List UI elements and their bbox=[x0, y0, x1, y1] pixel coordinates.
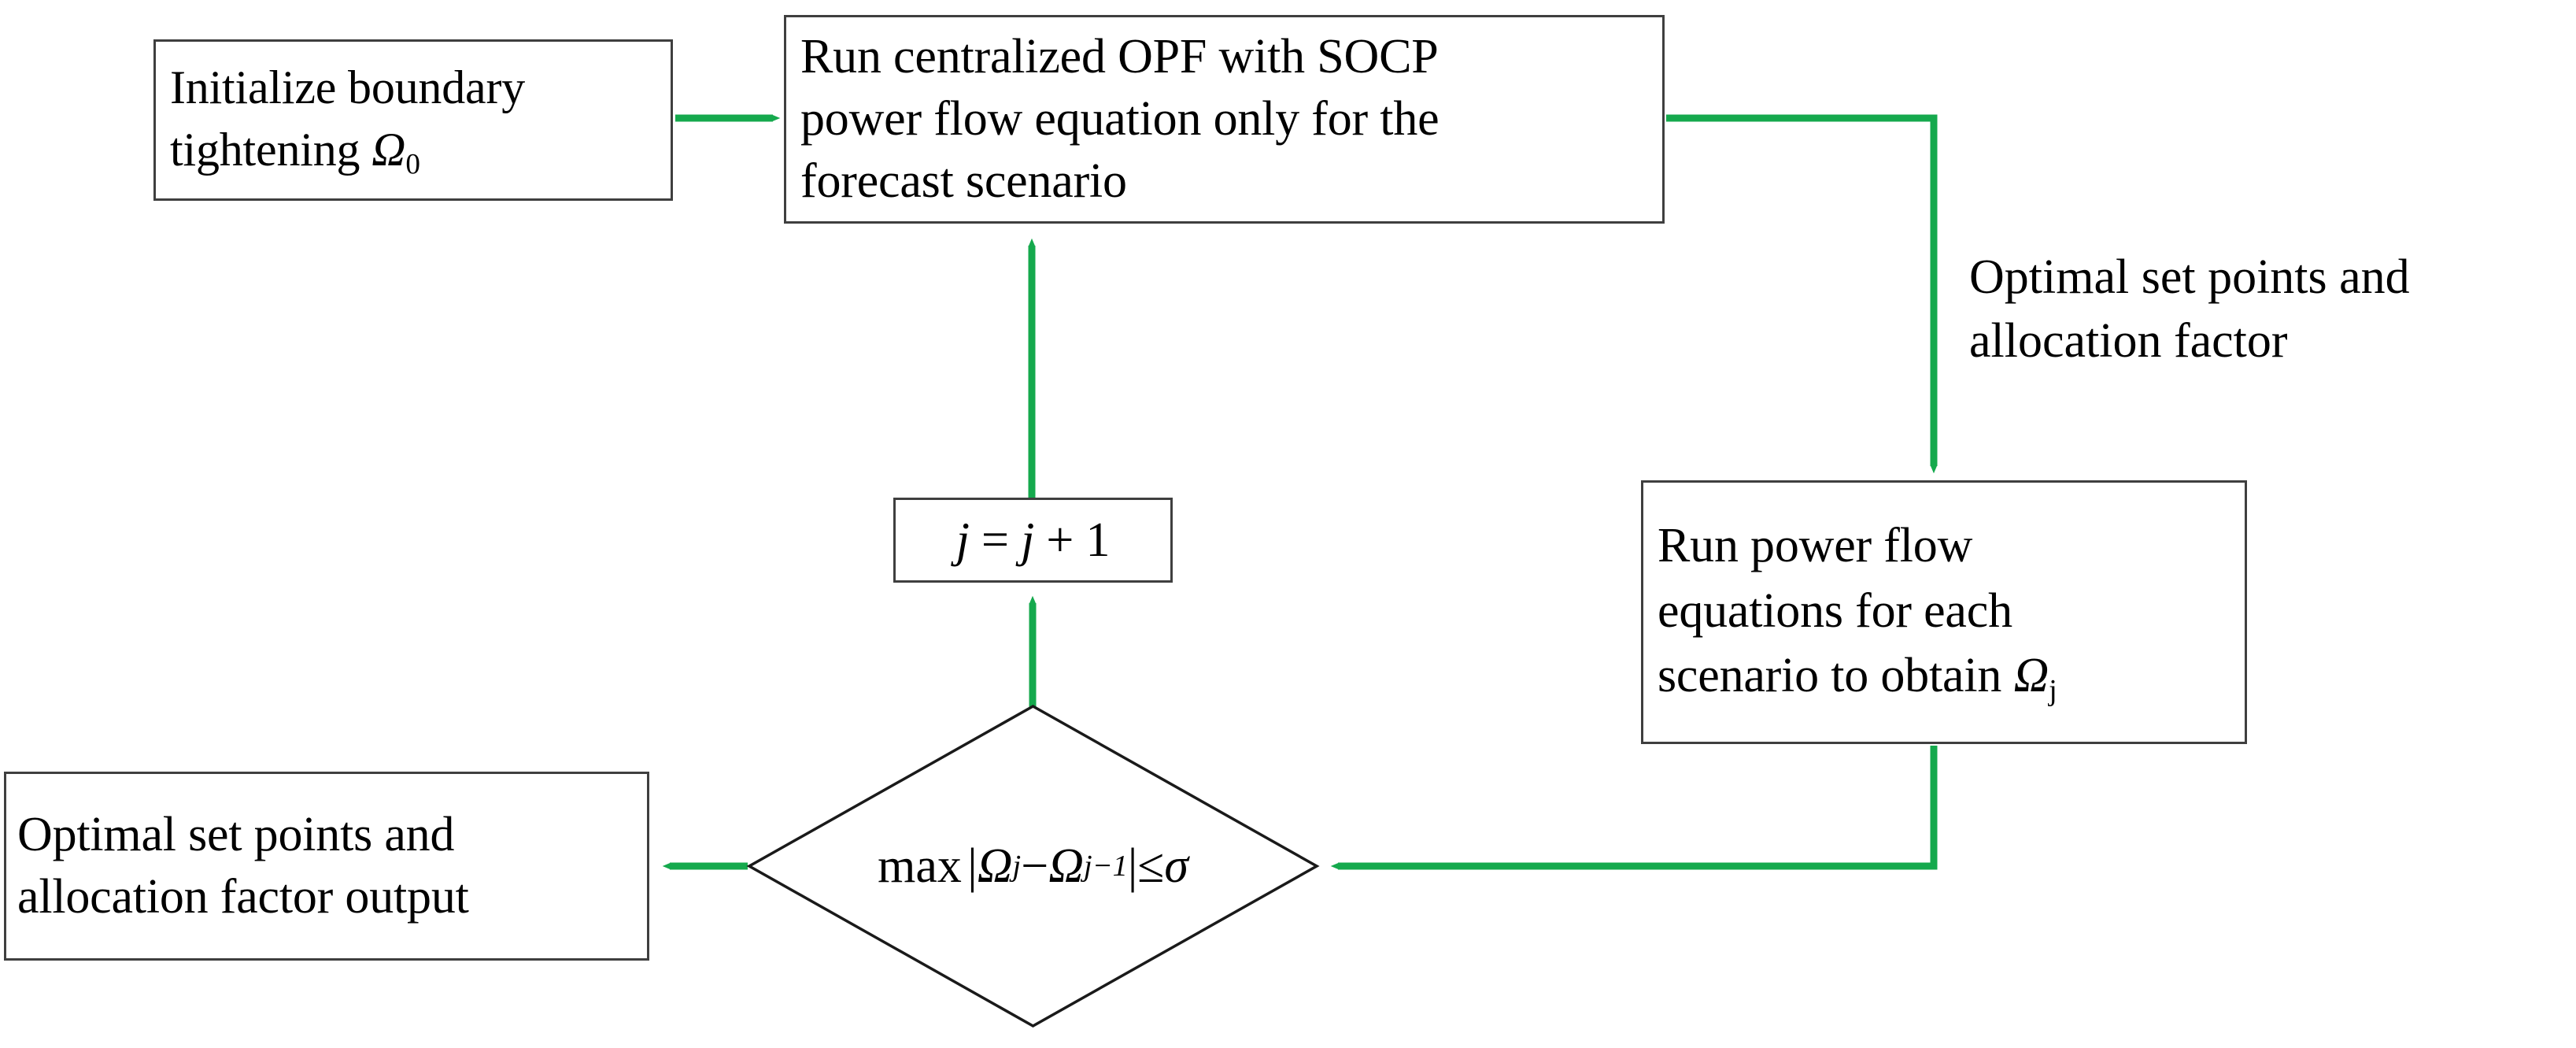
node-increment-counter[interactable]: j = j + 1 bbox=[893, 498, 1173, 583]
max-function: max bbox=[878, 839, 962, 894]
node-centralized-line2: power flow equation only for the bbox=[800, 92, 1439, 146]
abs-bar-open: | bbox=[962, 839, 978, 894]
node-initialize-boundary-tightening[interactable]: Initialize boundarytightening Ω0 bbox=[153, 39, 673, 201]
edge-label-line2: allocation factor bbox=[1969, 314, 2288, 368]
plus-operator: + bbox=[1034, 513, 1085, 567]
omega-subscript: 0 bbox=[405, 148, 419, 180]
node-powerflow-line3: scenario to obtain bbox=[1658, 649, 2013, 702]
node-run-power-flow-equations[interactable]: Run power flowequations for eachscenario… bbox=[1641, 480, 2247, 744]
node-centralized-line1: Run centralized OPF with SOCP bbox=[800, 30, 1439, 83]
increment-var: j bbox=[956, 513, 970, 567]
node-initialize-label: Initialize boundarytightening Ω0 bbox=[156, 57, 671, 184]
sigma-symbol: σ bbox=[1164, 839, 1188, 894]
omega-jm1-subscript: j−1 bbox=[1084, 849, 1128, 883]
minus-operator: − bbox=[1021, 839, 1048, 894]
node-decision-label: max|Ωj − Ωj−1| ≤ σ bbox=[748, 705, 1318, 1028]
node-run-centralized-opf[interactable]: Run centralized OPF with SOCPpower flow … bbox=[784, 15, 1665, 224]
node-increment-label: j = j + 1 bbox=[896, 509, 1170, 572]
increment-one: 1 bbox=[1086, 513, 1111, 567]
omega-subscript: j bbox=[2049, 674, 2057, 707]
node-powerflow-label: Run power flowequations for eachscenario… bbox=[1643, 513, 2245, 711]
node-output-label: Optimal set points andallocation factor … bbox=[6, 804, 647, 929]
equals-operator: = bbox=[970, 513, 1021, 567]
node-initialize-line1: Initialize boundary bbox=[170, 61, 525, 113]
omega-symbol: Ω bbox=[2013, 649, 2049, 702]
omega-jm1-symbol: Ω bbox=[1048, 839, 1084, 894]
flowchart-canvas: Initialize boundarytightening Ω0 Run cen… bbox=[0, 0, 2576, 1048]
node-convergence-check[interactable]: max|Ωj − Ωj−1| ≤ σ bbox=[748, 705, 1318, 1028]
edge-powerflow-to-decision bbox=[1338, 746, 1934, 866]
node-powerflow-line2: equations for each bbox=[1658, 584, 2012, 638]
omega-j-subscript: j bbox=[1013, 849, 1022, 883]
node-centralized-line3: forecast scenario bbox=[800, 154, 1127, 208]
node-optimal-output[interactable]: Optimal set points andallocation factor … bbox=[4, 772, 649, 961]
edge-label-optimal-set-points: Optimal set points and allocation factor bbox=[1969, 246, 2575, 372]
edge-label-line1: Optimal set points and bbox=[1969, 250, 2410, 304]
node-powerflow-line1: Run power flow bbox=[1658, 519, 1972, 572]
node-output-line1: Optimal set points and bbox=[17, 808, 454, 861]
abs-bar-close: | bbox=[1128, 839, 1137, 894]
leq-operator: ≤ bbox=[1137, 839, 1164, 894]
edge-centralized-to-powerflow bbox=[1666, 118, 1934, 466]
omega-j-symbol: Ω bbox=[978, 839, 1013, 894]
increment-var2: j bbox=[1021, 513, 1034, 567]
node-initialize-line2: tightening bbox=[170, 124, 371, 176]
omega-symbol: Ω bbox=[371, 124, 405, 176]
node-output-line2: allocation factor output bbox=[17, 870, 469, 924]
node-centralized-label: Run centralized OPF with SOCPpower flow … bbox=[786, 26, 1662, 212]
